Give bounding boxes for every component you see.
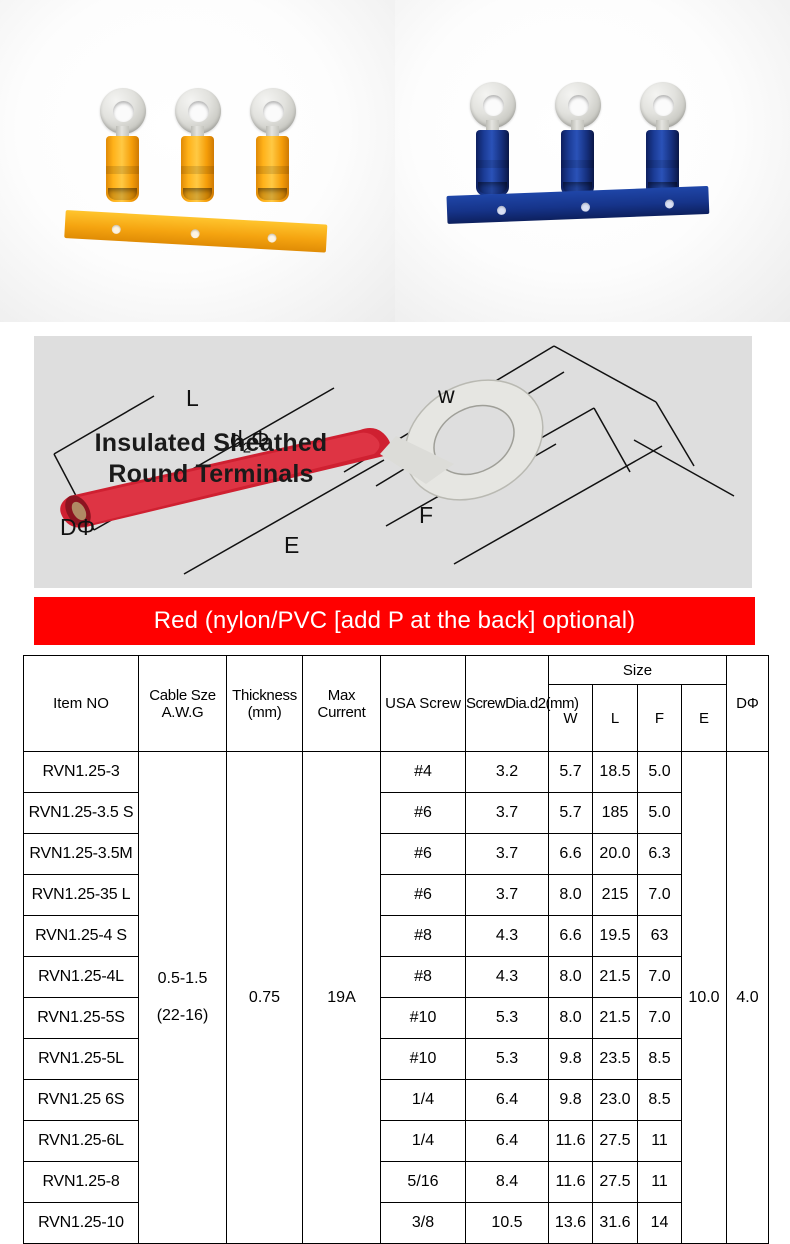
cell-size-w: 8.0 xyxy=(549,957,593,998)
table-row: RVN1.25-5L#105.39.823.58.5 xyxy=(24,1039,769,1080)
carrier-hole xyxy=(112,225,121,234)
cell-screw-dia: 3.2 xyxy=(466,752,549,793)
cell-usa-screw: 3/8 xyxy=(381,1203,466,1244)
cell-usa-screw: #8 xyxy=(381,957,466,998)
cell-size-f: 7.0 xyxy=(638,875,682,916)
cell-usa-screw: 5/16 xyxy=(381,1162,466,1203)
cell-size-f: 7.0 xyxy=(638,998,682,1039)
table-body: RVN1.25-30.5-1.5(22-16)0.7519A#43.25.718… xyxy=(24,752,769,1244)
col-header-size-group: Size xyxy=(549,656,727,685)
carrier-hole xyxy=(581,203,590,212)
cell-item-no: RVN1.25-3.5 S xyxy=(24,793,139,834)
cell-size-f: 11 xyxy=(638,1121,682,1162)
insulation-barrel xyxy=(256,136,289,202)
cell-size-f: 8.5 xyxy=(638,1039,682,1080)
cell-size-w: 8.0 xyxy=(549,998,593,1039)
cell-screw-dia: 5.3 xyxy=(466,998,549,1039)
col-header-l: L xyxy=(593,685,638,752)
insulation-barrel xyxy=(561,130,594,196)
dimension-diagram-panel: Insulated Sheathed Round Terminals L w d… xyxy=(34,336,752,588)
cell-size-e: 10.0 xyxy=(682,752,727,1244)
cell-size-f: 8.5 xyxy=(638,1080,682,1121)
cell-screw-dia: 4.3 xyxy=(466,957,549,998)
color-variant-banner: Red (nylon/PVC [add P at the back] optio… xyxy=(34,597,755,645)
table-row: RVN1.25-3.5 S#63.75.71855.0 xyxy=(24,793,769,834)
cell-item-no: RVN1.25-4 S xyxy=(24,916,139,957)
cell-size-w: 11.6 xyxy=(549,1162,593,1203)
cell-screw-dia: 6.4 xyxy=(466,1121,549,1162)
cell-item-no: RVN1.25-6L xyxy=(24,1121,139,1162)
cell-size-w: 5.7 xyxy=(549,793,593,834)
dimension-label-L: L xyxy=(186,385,199,412)
cell-size-f: 5.0 xyxy=(638,752,682,793)
cell-size-f: 11 xyxy=(638,1162,682,1203)
cell-size-f: 5.0 xyxy=(638,793,682,834)
terminal-carrier-strip xyxy=(64,210,327,253)
cell-cable-size: 0.5-1.5(22-16) xyxy=(139,752,227,1244)
cell-size-w: 6.6 xyxy=(549,916,593,957)
cell-screw-dia: 3.7 xyxy=(466,875,549,916)
cell-d-phi: 4.0 xyxy=(727,752,769,1244)
cell-size-w: 9.8 xyxy=(549,1080,593,1121)
cell-screw-dia: 8.4 xyxy=(466,1162,549,1203)
cell-item-no: RVN1.25-35 L xyxy=(24,875,139,916)
product-photo-yellow-terminals xyxy=(0,0,395,322)
table-row: RVN1.25-5S#105.38.021.57.0 xyxy=(24,998,769,1039)
cell-size-l: 23.0 xyxy=(593,1080,638,1121)
cell-size-l: 27.5 xyxy=(593,1162,638,1203)
col-header-cable-size: Cable Sze A.W.G xyxy=(139,656,227,752)
cell-item-no: RVN1.25-3.5M xyxy=(24,834,139,875)
cell-size-l: 21.5 xyxy=(593,957,638,998)
dimension-label-E: E xyxy=(284,532,299,559)
specification-table-wrap: Item NO Cable Sze A.W.G Thickness (mm) M… xyxy=(23,655,768,1244)
carrier-hole xyxy=(190,229,199,238)
product-photo-strip xyxy=(0,0,790,322)
col-header-usa-screw: USA Screw xyxy=(381,656,466,752)
product-photo-blue-terminals xyxy=(395,0,790,322)
insulation-barrel xyxy=(646,130,679,196)
col-header-item-no: Item NO xyxy=(24,656,139,752)
cell-size-w: 6.6 xyxy=(549,834,593,875)
cell-screw-dia: 6.4 xyxy=(466,1080,549,1121)
insulation-barrel xyxy=(476,130,509,196)
table-row: RVN1.25-103/810.513.631.614 xyxy=(24,1203,769,1244)
col-header-screw-dia: ScrewDia.d2(mm) xyxy=(466,656,549,752)
insulation-barrel xyxy=(106,136,139,202)
diagram-title-line1: Insulated Sheathed xyxy=(95,429,328,457)
col-header-d-phi: DΦ xyxy=(727,656,769,752)
cell-size-l: 19.5 xyxy=(593,916,638,957)
col-header-max-current: Max Current xyxy=(303,656,381,752)
dimension-label-F: F xyxy=(419,502,433,529)
table-row: RVN1.25-30.5-1.5(22-16)0.7519A#43.25.718… xyxy=(24,752,769,793)
col-header-f: F xyxy=(638,685,682,752)
cell-usa-screw: 1/4 xyxy=(381,1080,466,1121)
cell-size-f: 6.3 xyxy=(638,834,682,875)
table-row: RVN1.25-6L1/46.411.627.511 xyxy=(24,1121,769,1162)
cell-screw-dia: 3.7 xyxy=(466,793,549,834)
cell-size-w: 13.6 xyxy=(549,1203,593,1244)
cell-size-l: 27.5 xyxy=(593,1121,638,1162)
table-row: RVN1.25 6S1/46.49.823.08.5 xyxy=(24,1080,769,1121)
cell-usa-screw: #4 xyxy=(381,752,466,793)
cell-size-l: 31.6 xyxy=(593,1203,638,1244)
table-header-row-1: Item NO Cable Sze A.W.G Thickness (mm) M… xyxy=(24,656,769,685)
cell-usa-screw: #6 xyxy=(381,875,466,916)
cell-screw-dia: 3.7 xyxy=(466,834,549,875)
cell-screw-dia: 10.5 xyxy=(466,1203,549,1244)
col-header-e: E xyxy=(682,685,727,752)
dimension-label-D-phi: DΦ xyxy=(60,514,95,541)
cell-usa-screw: #10 xyxy=(381,1039,466,1080)
cell-max-current: 19A xyxy=(303,752,381,1244)
cell-item-no: RVN1.25-10 xyxy=(24,1203,139,1244)
cell-size-w: 11.6 xyxy=(549,1121,593,1162)
dimension-label-d2-phi: d2Φ xyxy=(230,426,270,457)
cell-item-no: RVN1.25-5L xyxy=(24,1039,139,1080)
cell-thickness: 0.75 xyxy=(227,752,303,1244)
cell-size-l: 21.5 xyxy=(593,998,638,1039)
carrier-hole xyxy=(497,206,506,215)
cell-size-w: 9.8 xyxy=(549,1039,593,1080)
cell-item-no: RVN1.25-3 xyxy=(24,752,139,793)
carrier-hole xyxy=(665,199,674,208)
cell-size-f: 63 xyxy=(638,916,682,957)
table-row: RVN1.25-4 S#84.36.619.563 xyxy=(24,916,769,957)
carrier-hole xyxy=(267,233,276,242)
cell-usa-screw: 1/4 xyxy=(381,1121,466,1162)
diagram-title-line2: Round Terminals xyxy=(108,460,313,488)
table-row: RVN1.25-3.5M#63.76.620.06.3 xyxy=(24,834,769,875)
cell-item-no: RVN1.25 6S xyxy=(24,1080,139,1121)
cell-screw-dia: 4.3 xyxy=(466,916,549,957)
insulation-barrel xyxy=(181,136,214,202)
cell-usa-screw: #6 xyxy=(381,834,466,875)
cell-size-l: 20.0 xyxy=(593,834,638,875)
cell-size-w: 5.7 xyxy=(549,752,593,793)
table-row: RVN1.25-35 L#63.78.02157.0 xyxy=(24,875,769,916)
cell-size-f: 14 xyxy=(638,1203,682,1244)
cell-screw-dia: 5.3 xyxy=(466,1039,549,1080)
dimension-label-W: w xyxy=(438,382,455,409)
cell-size-f: 7.0 xyxy=(638,957,682,998)
cell-size-w: 8.0 xyxy=(549,875,593,916)
diagram-title: Insulated Sheathed Round Terminals xyxy=(56,428,366,489)
cell-size-l: 185 xyxy=(593,793,638,834)
cell-size-l: 18.5 xyxy=(593,752,638,793)
specification-table: Item NO Cable Sze A.W.G Thickness (mm) M… xyxy=(23,655,769,1244)
col-header-thickness: Thickness (mm) xyxy=(227,656,303,752)
cell-size-l: 215 xyxy=(593,875,638,916)
cell-usa-screw: #10 xyxy=(381,998,466,1039)
table-row: RVN1.25-4L#84.38.021.57.0 xyxy=(24,957,769,998)
cell-usa-screw: #6 xyxy=(381,793,466,834)
cell-item-no: RVN1.25-8 xyxy=(24,1162,139,1203)
cell-item-no: RVN1.25-4L xyxy=(24,957,139,998)
cell-item-no: RVN1.25-5S xyxy=(24,998,139,1039)
table-row: RVN1.25-85/168.411.627.511 xyxy=(24,1162,769,1203)
cell-size-l: 23.5 xyxy=(593,1039,638,1080)
cell-usa-screw: #8 xyxy=(381,916,466,957)
